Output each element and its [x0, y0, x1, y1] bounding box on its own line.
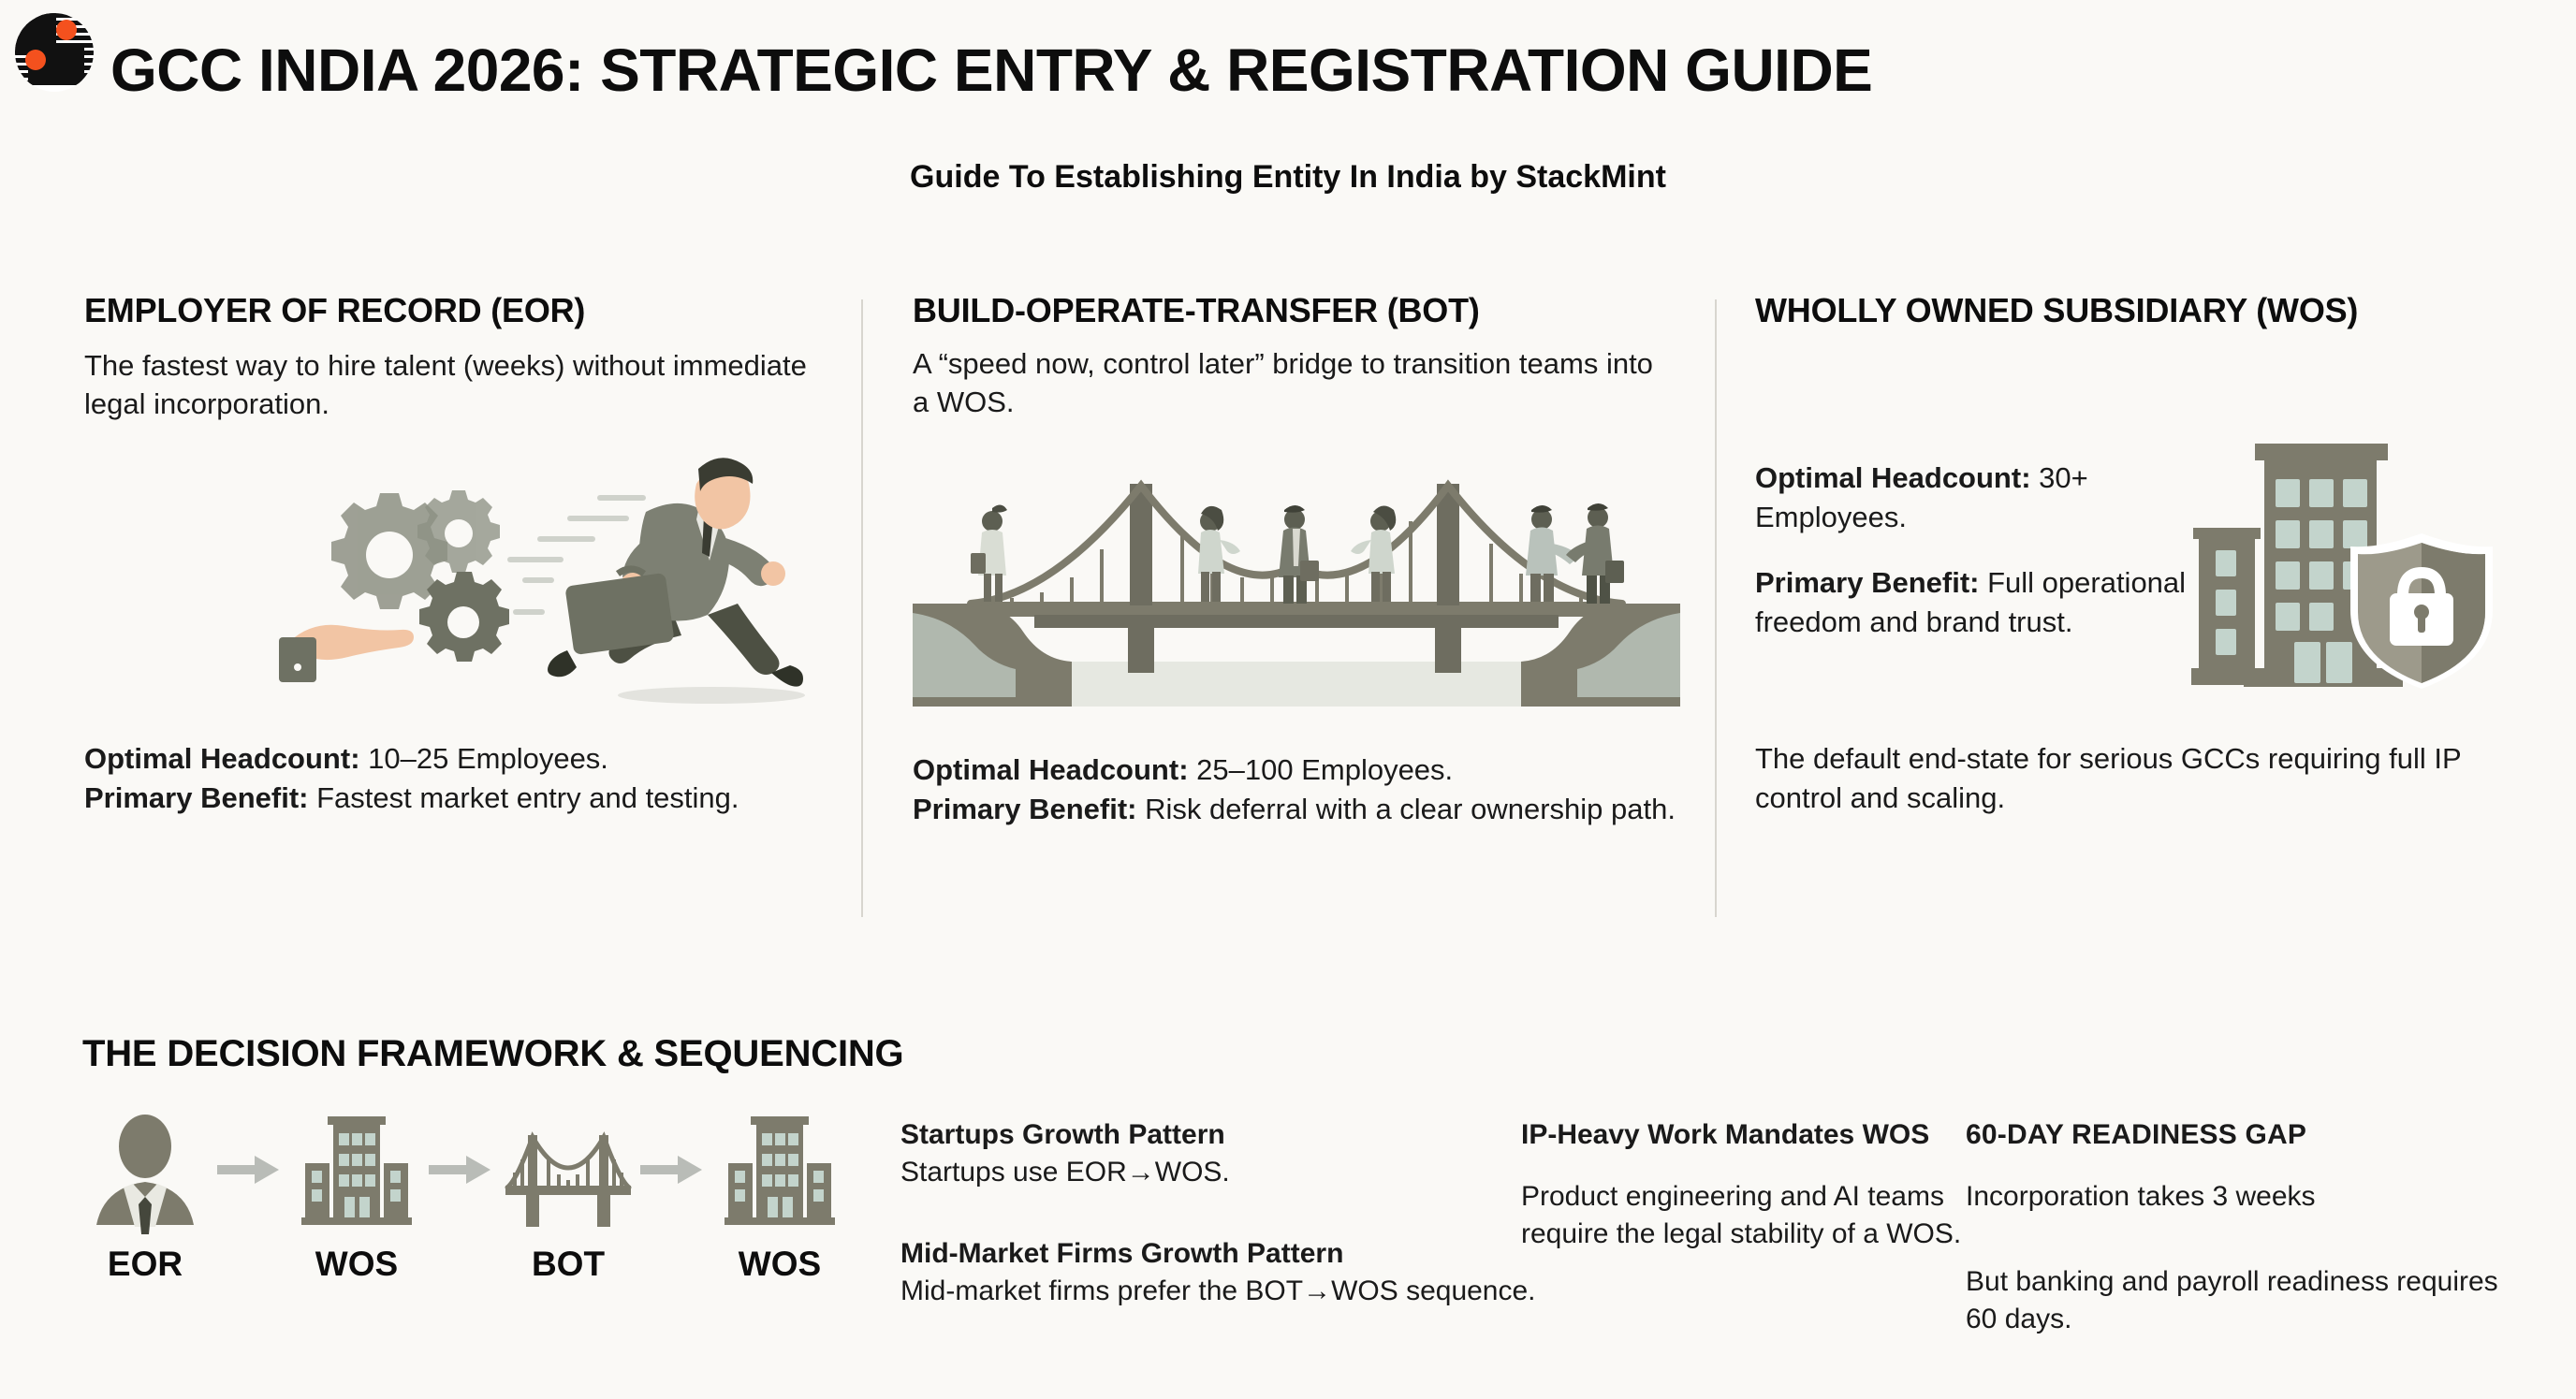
column-heading-wos: WHOLLY OWNED SUBSIDIARY (WOS)	[1755, 290, 2504, 331]
column-footer-bot: Optimal Headcount: 25–100 Employees. Pri…	[913, 751, 1690, 829]
note-heading: IP-Heavy Work Mandates WOS	[1521, 1116, 1989, 1154]
column-heading-eor: EMPLOYER OF RECORD (EOR)	[84, 290, 861, 331]
flow-label-eor: EOR	[75, 1245, 215, 1284]
kv-item: Optimal Headcount: 30+ Employees.	[1755, 459, 2204, 537]
flow-node-eor	[75, 1109, 215, 1231]
footer-value: Risk deferral with a clear ownership pat…	[1145, 793, 1676, 825]
flow-label-wos-2: WOS	[710, 1245, 850, 1284]
framework-note-readiness-gap: 60-DAY READINESS GAP Incorporation takes…	[1966, 1116, 2509, 1216]
framework-note-readiness-detail: But banking and payroll readiness requir…	[1966, 1263, 2509, 1338]
framework-note-ip-heavy: IP-Heavy Work Mandates WOS Product engin…	[1521, 1116, 1989, 1253]
footer-item: Optimal Headcount: 10–25 Employees.	[84, 739, 861, 779]
note-heading: 60-DAY READINESS GAP	[1966, 1116, 2509, 1154]
framework-note-midmarket: Mid-Market Firms Growth Pattern Mid-mark…	[900, 1235, 1537, 1310]
column-wholly-owned-subsidiary: WHOLLY OWNED SUBSIDIARY (WOS) Optimal He…	[1755, 290, 2504, 348]
note-heading: Mid-Market Firms Growth Pattern	[900, 1235, 1537, 1273]
kv-label: Primary Benefit:	[1755, 566, 1979, 599]
flow-node-wos-2	[710, 1109, 850, 1231]
column-footer-wos: The default end-state for serious GCCs r…	[1755, 739, 2504, 818]
note-body: Mid-market firms prefer the BOT→WOS sequ…	[900, 1275, 1536, 1306]
entry-models-section: EMPLOYER OF RECORD (EOR) The fastest way…	[0, 290, 2576, 926]
sequence-flow-icons	[75, 1109, 880, 1231]
footer-value: 25–100 Employees.	[1196, 753, 1453, 786]
footer-label: Optimal Headcount:	[913, 753, 1189, 786]
column-keyvalues-wos: Optimal Headcount: 30+ Employees. Primar…	[1755, 459, 2204, 641]
footer-label: Primary Benefit:	[84, 781, 308, 814]
infographic-page: GCC INDIA 2026: STRATEGIC ENTRY & REGIST…	[0, 0, 2576, 1399]
note-body: Product engineering and AI teams require…	[1521, 1181, 1961, 1249]
note-body: Startups use EOR→WOS.	[900, 1157, 1230, 1188]
note-spacer	[1521, 1154, 1989, 1178]
flow-node-wos-1	[286, 1109, 427, 1231]
column-description-bot: A “speed now, control later” bridge to t…	[913, 344, 1661, 421]
column-employer-of-record: EMPLOYER OF RECORD (EOR) The fastest way…	[84, 290, 861, 348]
column-footer-eor: Optimal Headcount: 10–25 Employees. Prim…	[84, 739, 861, 818]
flow-arrow-2-icon	[429, 1154, 494, 1186]
sequence-flow-diagram: EOR WOS BOT WOS	[75, 1109, 880, 1343]
note-body: But banking and payroll readiness requir…	[1966, 1266, 2498, 1334]
page-subtitle: Guide To Establishing Entity In India by…	[0, 159, 2576, 196]
column-divider-2	[1715, 299, 1717, 917]
sequence-flow-labels: EOR WOS BOT WOS	[75, 1245, 880, 1291]
stackmint-logo-icon	[7, 6, 101, 99]
note-body: Incorporation takes 3 weeks	[1966, 1181, 2316, 1212]
footer-label: Primary Benefit:	[913, 793, 1136, 825]
header: GCC INDIA 2026: STRATEGIC ENTRY & REGIST…	[0, 0, 2576, 234]
flow-arrow-3-icon	[640, 1154, 706, 1186]
person-avatar-icon	[75, 1109, 215, 1231]
footer-label: Optimal Headcount:	[84, 742, 360, 775]
column-heading-bot: BUILD-OPERATE-TRANSFER (BOT)	[913, 290, 1690, 331]
office-building-icon	[710, 1109, 850, 1231]
flow-arrow-1-icon	[217, 1154, 283, 1186]
suspension-bridge-with-people-illustration	[913, 463, 1680, 707]
framework-title: THE DECISION FRAMEWORK & SEQUENCING	[82, 1033, 903, 1075]
bridge-icon	[498, 1109, 638, 1231]
kv-item: Primary Benefit: Full operational freedo…	[1755, 563, 2204, 642]
footer-value: Fastest market entry and testing.	[316, 781, 739, 814]
flow-label-bot: BOT	[498, 1245, 638, 1284]
note-spacer	[1966, 1154, 2509, 1178]
page-title: GCC INDIA 2026: STRATEGIC ENTRY & REGIST…	[110, 36, 1872, 105]
framework-note-startups: Startups Growth Pattern Startups use EOR…	[900, 1116, 1518, 1191]
footer-item: Primary Benefit: Risk deferral with a cl…	[913, 790, 1690, 829]
note-heading: Startups Growth Pattern	[900, 1116, 1518, 1154]
gears-and-running-businessman-illustration	[271, 454, 852, 707]
footer-item: Optimal Headcount: 25–100 Employees.	[913, 751, 1690, 790]
footer-item: Primary Benefit: Fastest market entry an…	[84, 779, 861, 818]
flow-label-wos-1: WOS	[286, 1245, 427, 1284]
kv-label: Optimal Headcount:	[1755, 461, 2031, 494]
column-divider-1	[861, 299, 863, 917]
office-building-icon	[286, 1109, 427, 1231]
footer-value: 10–25 Employees.	[368, 742, 608, 775]
flow-node-bot	[498, 1109, 638, 1231]
office-building-with-shield-lock-illustration	[2186, 430, 2513, 702]
column-build-operate-transfer: BUILD-OPERATE-TRANSFER (BOT) A “speed no…	[913, 290, 1690, 348]
column-description-eor: The fastest way to hire talent (weeks) w…	[84, 346, 833, 423]
